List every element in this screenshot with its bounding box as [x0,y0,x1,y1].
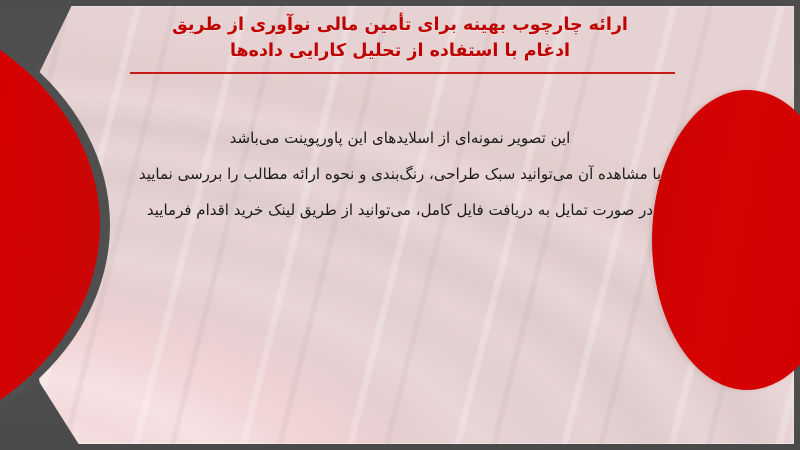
slide-title: ارائه چارچوب بهینه برای تأمین مالی نوآور… [0,12,800,64]
title-underline [130,72,675,74]
slide-body: این تصویر نمونه‌ای از اسلایدهای این پاور… [0,120,800,228]
body-line-3: در صورت تمایل به دریافت فایل کامل، می‌تو… [0,192,800,228]
body-line-2: با مشاهده آن می‌توانید سبک طراحی، رنگ‌بن… [0,156,800,192]
title-line-1: ارائه چارچوب بهینه برای تأمین مالی نوآور… [0,12,800,38]
body-line-1: این تصویر نمونه‌ای از اسلایدهای این پاور… [0,120,800,156]
presentation-slide: ارائه چارچوب بهینه برای تأمین مالی نوآور… [0,0,800,450]
title-line-2: ادغام با استفاده از تحلیل کارایی داده‌ها [0,38,800,64]
